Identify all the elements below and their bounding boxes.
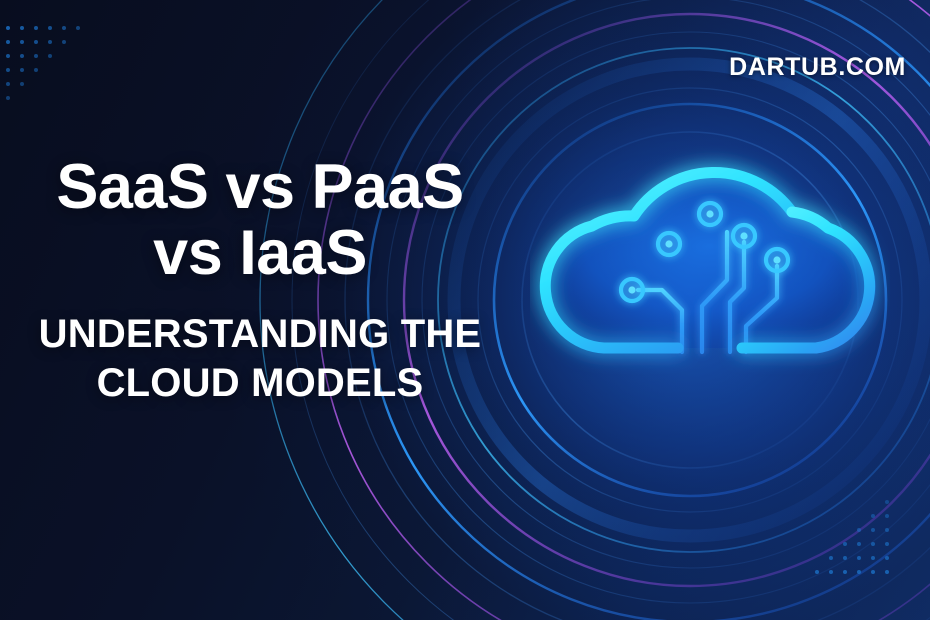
decor-dot bbox=[885, 542, 889, 546]
decor-dot bbox=[843, 556, 847, 560]
decor-dot bbox=[62, 26, 66, 30]
decor-dot bbox=[6, 82, 10, 86]
decor-dot bbox=[857, 570, 861, 574]
hero-text-block: SaaS vs PaaS vs IaaS UNDERSTANDING THE C… bbox=[0, 155, 520, 408]
decor-dot bbox=[34, 54, 38, 58]
decor-dot bbox=[20, 82, 24, 86]
decor-dot bbox=[885, 528, 889, 532]
decor-dot bbox=[20, 54, 24, 58]
title-line-2: vs IaaS bbox=[0, 221, 520, 287]
decor-dot bbox=[885, 514, 889, 518]
decor-dot bbox=[62, 40, 66, 44]
decor-dot bbox=[815, 570, 819, 574]
decor-dot bbox=[6, 96, 10, 100]
decor-dot bbox=[6, 54, 10, 58]
decor-dot bbox=[6, 40, 10, 44]
decor-dot bbox=[34, 68, 38, 72]
decor-dot bbox=[871, 528, 875, 532]
decor-dot bbox=[885, 556, 889, 560]
decor-dot bbox=[871, 542, 875, 546]
decor-dot bbox=[871, 514, 875, 518]
decor-dot bbox=[48, 26, 52, 30]
decor-dot bbox=[20, 26, 24, 30]
decor-dot bbox=[34, 26, 38, 30]
decor-dot bbox=[6, 26, 10, 30]
decor-dot bbox=[871, 570, 875, 574]
subtitle-line-1: UNDERSTANDING THE bbox=[0, 310, 520, 359]
decor-dot bbox=[76, 26, 80, 30]
decor-dot bbox=[857, 556, 861, 560]
cloud-circuit-icon bbox=[530, 120, 890, 450]
page-title: SaaS vs PaaS vs IaaS bbox=[0, 155, 520, 286]
subtitle-line-2: CLOUD MODELS bbox=[0, 359, 520, 408]
decor-dot bbox=[6, 68, 10, 72]
decor-dot bbox=[885, 500, 889, 504]
decor-dot bbox=[843, 570, 847, 574]
decor-dot bbox=[857, 542, 861, 546]
decor-dot bbox=[857, 528, 861, 532]
decor-dot bbox=[843, 542, 847, 546]
decor-dot bbox=[48, 54, 52, 58]
decor-dot bbox=[20, 68, 24, 72]
decor-dot bbox=[871, 556, 875, 560]
dot-matrix-bottom-right bbox=[815, 500, 930, 615]
decor-dot bbox=[20, 40, 24, 44]
site-logo: DARTUB.COM bbox=[729, 53, 906, 82]
decor-dot bbox=[829, 556, 833, 560]
title-line-1: SaaS vs PaaS bbox=[56, 152, 463, 222]
page-subtitle: UNDERSTANDING THE CLOUD MODELS bbox=[0, 310, 520, 408]
decor-dot bbox=[34, 40, 38, 44]
poster-canvas: DARTUB.COM SaaS vs PaaS vs IaaS UNDERSTA… bbox=[0, 0, 930, 620]
decor-dot bbox=[885, 570, 889, 574]
dot-matrix-top-left bbox=[6, 26, 116, 136]
decor-dot bbox=[829, 570, 833, 574]
decor-dot bbox=[48, 40, 52, 44]
